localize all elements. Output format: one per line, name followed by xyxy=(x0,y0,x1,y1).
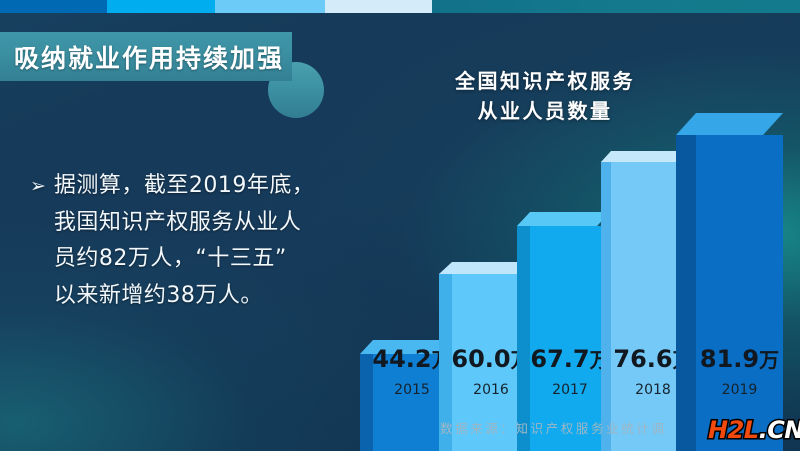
bar-value-number: 60.0 xyxy=(451,345,510,373)
bar-front-face xyxy=(696,135,783,451)
chart-title: 全国知识产权服务 从业人员数量 xyxy=(430,66,660,126)
slide-canvas: 吸纳就业作用持续加强 ➢ 据测算，截至2019年底， 我国知识产权服务从业人 员… xyxy=(0,0,800,451)
bullet-line: 员约82万人，“十三五” xyxy=(54,241,315,278)
bar-side-face xyxy=(517,212,531,451)
strip-segment-5 xyxy=(432,0,800,13)
bullet-line: 据测算，截至2019年底， xyxy=(54,168,315,205)
watermark-tld: .CN xyxy=(759,416,800,444)
arrow-bullet-icon: ➢ xyxy=(30,168,46,314)
bar-category-label: 2017 xyxy=(530,382,610,398)
page-title: 吸纳就业作用持续加强 xyxy=(14,32,344,81)
bar-value-unit: 万 xyxy=(759,348,779,372)
bar-value-number: 76.6 xyxy=(613,345,672,373)
watermark-brand: H2L xyxy=(708,416,759,444)
watermark: H2L.CN xyxy=(708,416,800,444)
bar-category-label: 2019 xyxy=(696,382,783,398)
top-color-strip xyxy=(0,0,800,13)
bullet-text: 据测算，截至2019年底， 我国知识产权服务从业人 员约82万人，“十三五” 以… xyxy=(54,168,315,314)
bar-value-number: 44.2 xyxy=(372,345,431,373)
bar-value-label: 81.9万 xyxy=(692,344,787,373)
bar-side-face xyxy=(676,113,697,451)
bullet-line: 以来新增约38万人。 xyxy=(54,278,315,315)
bar-value-number: 67.7 xyxy=(530,345,589,373)
strip-segment-3 xyxy=(215,0,325,13)
strip-segment-1 xyxy=(0,0,107,13)
strip-segment-2 xyxy=(107,0,215,13)
strip-segment-4 xyxy=(325,0,432,13)
chart-title-line: 从业人员数量 xyxy=(430,96,660,126)
bullet-block: ➢ 据测算，截至2019年底， 我国知识产权服务从业人 员约82万人，“十三五”… xyxy=(30,168,390,314)
bullet-line: 我国知识产权服务从业人 xyxy=(54,205,315,242)
bar-top-face xyxy=(676,113,783,136)
bar-value-number: 81.9 xyxy=(700,345,759,373)
bar-2019 xyxy=(676,113,783,451)
bar-2017 xyxy=(517,212,610,451)
chart-source-note: 数据来源：知识产权服务业统计调 xyxy=(440,418,667,437)
bar-top-face xyxy=(517,212,610,227)
chart-title-line: 全国知识产权服务 xyxy=(430,66,660,96)
